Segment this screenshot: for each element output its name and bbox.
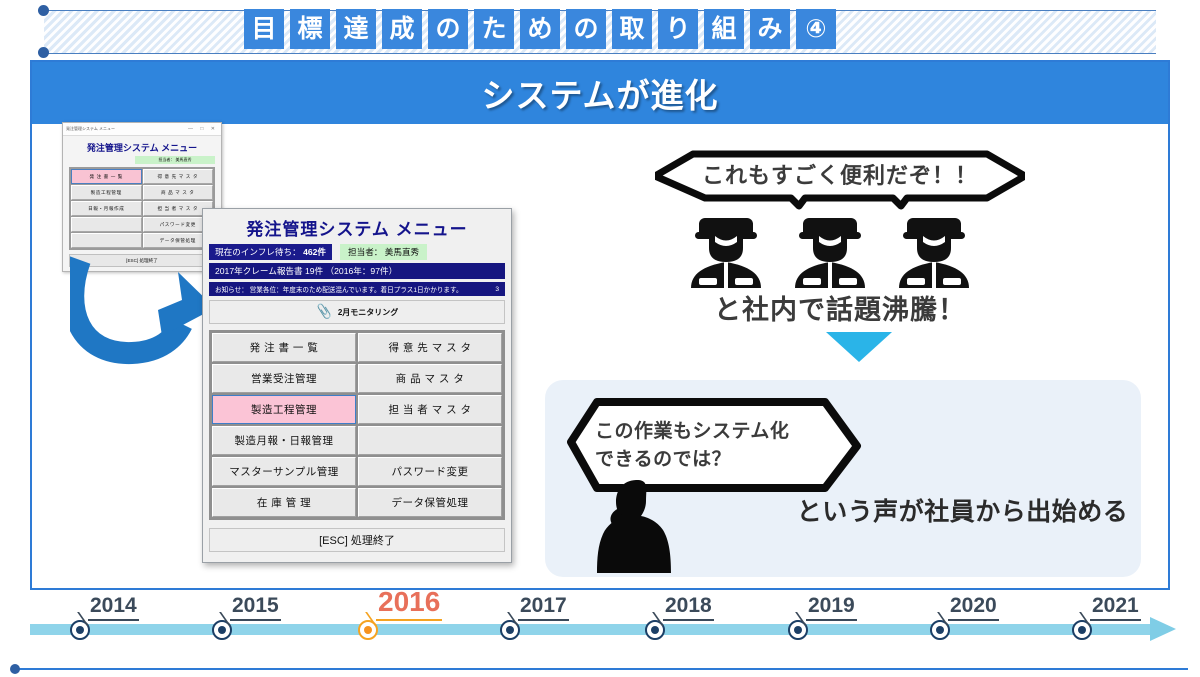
header-title-char: 取 (612, 9, 652, 49)
timeline-node-2016-current[interactable]: 2016 (358, 596, 478, 656)
old-button-grid: 発 注 書 一 覧 得 意 先 マ ス タ 製造工程管理 商 品 マ ス タ 日… (69, 167, 215, 250)
timeline-year-label: 2018 (663, 594, 714, 621)
buzz-text: と社内で話題沸騰！ (650, 288, 1030, 327)
menu-button-empty (358, 426, 502, 455)
header-title-char: 達 (336, 9, 376, 49)
menu-button-data-archive[interactable]: データ保管処理 (358, 488, 502, 517)
timeline-year-label: 2017 (518, 594, 569, 621)
worker-figures-group (685, 212, 975, 292)
exit-button[interactable]: [ESC] 処理終了 (209, 528, 505, 552)
attachment-label: 2月モニタリング (338, 307, 398, 318)
speech-bubble-top: これもすごく便利だぞ！！ (655, 148, 1025, 210)
header-title-char: 目 (244, 9, 284, 49)
old-window-controls: — □ ✕ (188, 126, 218, 132)
old-menu-button[interactable]: 日報・月報作成 (71, 201, 142, 216)
new-window-heading: 発注管理システム メニュー (203, 209, 511, 244)
section-title: システムが進化 (481, 69, 718, 117)
timeline-node-2015[interactable]: 2015 (212, 596, 332, 656)
header-title-char: 標 (290, 9, 330, 49)
down-arrow-icon (826, 332, 892, 362)
notice-text: お知らせ： 営業各位：年度末のため配送混んでいます。着日プラス1日かかります。 (215, 284, 463, 294)
menu-button-process-control[interactable]: 製造工程管理 (212, 395, 356, 424)
timeline-node-2018[interactable]: 2018 (645, 596, 765, 656)
speech-bubble-top-text: これもすごく便利だぞ！！ (655, 158, 1025, 190)
timeline-year-label: 2019 (806, 594, 857, 621)
notice-tail: 3 (495, 286, 499, 293)
menu-button-order-list[interactable]: 発 注 書 一 覧 (212, 333, 356, 362)
thinking-person-silhouette-icon (585, 478, 690, 573)
header-title-char: り (658, 9, 698, 49)
timeline-node-2017[interactable]: 2017 (500, 596, 620, 656)
header-title-char: の (566, 9, 606, 49)
claim-report-bar: 2017年クレーム報告書 19件 （2016年：97件） (209, 263, 505, 279)
header-title-char: 組 (704, 9, 744, 49)
header-title-char: み (750, 9, 790, 49)
paperclip-icon: 📎 (315, 303, 333, 321)
notice-bar: お知らせ： 営業各位：年度末のため配送混んでいます。着日プラス1日かかります。 … (209, 282, 505, 296)
timeline-year-label-current: 2016 (376, 586, 442, 621)
timeline-year-label: 2021 (1090, 594, 1141, 621)
header-title-char: 成 (382, 9, 422, 49)
inflation-wait-count: 462件 (303, 247, 326, 257)
new-info-row: 現在のインフレ待ち： 462件 担当者： 美馬直秀 (203, 244, 511, 260)
menu-button-product-master[interactable]: 商 品 マ ス タ (358, 364, 502, 393)
new-app-window: 発注管理システム メニュー 現在のインフレ待ち： 462件 担当者： 美馬直秀 … (202, 208, 512, 563)
menu-button-inventory[interactable]: 在 庫 管 理 (212, 488, 356, 517)
attachment-row[interactable]: 📎 2月モニタリング (209, 300, 505, 324)
timeline-node-2021[interactable]: 2021 (1072, 596, 1192, 656)
old-window-heading: 発注管理システム メニュー (63, 136, 221, 156)
menu-button-staff-master[interactable]: 担 当 者 マ ス タ (358, 395, 502, 424)
timeline-node-2020[interactable]: 2020 (930, 596, 1050, 656)
old-window-title: 発注管理システム メニュー (66, 126, 115, 132)
inflation-wait-bar: 現在のインフレ待ち： 462件 (209, 244, 332, 260)
footer-rule (12, 668, 1188, 670)
bottom-panel: この作業もシステム化 できるのでは？ という声が社員から出始める (545, 380, 1141, 577)
menu-button-master-sample[interactable]: マスターサンプル管理 (212, 457, 356, 486)
banner-dot-bottom (38, 47, 49, 58)
menu-button-monthly-daily-report[interactable]: 製造月報・日報管理 (212, 426, 356, 455)
voice-text: という声が社員から出始める (790, 492, 1135, 528)
timeline-node-2019[interactable]: 2019 (788, 596, 908, 656)
section-title-bar: システムが進化 (32, 62, 1168, 124)
worker-silhouette-icon (789, 212, 871, 292)
menu-button-customer-master[interactable]: 得 意 先 マ ス タ (358, 333, 502, 362)
new-staff-bar: 担当者： 美馬直秀 (340, 244, 427, 260)
speech-bubble-bottom-line2: できるのでは？ (595, 444, 835, 471)
inflation-wait-label: 現在のインフレ待ち： (215, 247, 301, 257)
timeline-year-label: 2015 (230, 594, 281, 621)
footer-dot (10, 664, 20, 674)
worker-silhouette-icon (893, 212, 975, 292)
header-title-char: め (520, 9, 560, 49)
header-title-char: た (474, 9, 514, 49)
old-window-titlebar: 発注管理システム メニュー — □ ✕ (63, 123, 221, 136)
header-title: 目 標 達 成 の た め の 取 り 組 み ④ (244, 9, 836, 49)
header-title-char: ④ (796, 9, 836, 49)
slide-root: 目 標 達 成 の た め の 取 り 組 み ④ システムが進化 発注管理シス… (0, 0, 1200, 677)
old-menu-button[interactable]: 発 注 書 一 覧 (71, 169, 142, 184)
speech-bubble-bottom-line1: この作業もシステム化 (595, 416, 835, 443)
timeline-year-label: 2014 (88, 594, 139, 621)
old-menu-button[interactable]: 得 意 先 マ ス タ (143, 169, 214, 184)
worker-silhouette-icon (685, 212, 767, 292)
timeline-node-2014[interactable]: 2014 (70, 596, 190, 656)
menu-button-sales-order[interactable]: 営業受注管理 (212, 364, 356, 393)
old-menu-button-empty (71, 233, 142, 248)
menu-button-password-change[interactable]: パスワード変更 (358, 457, 502, 486)
timeline: 2014 2015 2016 2017 2018 2019 (0, 596, 1200, 666)
old-menu-button[interactable]: 商 品 マ ス タ (143, 185, 214, 200)
banner-dot-top (38, 5, 49, 16)
header-title-char: の (428, 9, 468, 49)
old-menu-button[interactable]: 製造工程管理 (71, 185, 142, 200)
old-menu-button-empty (71, 217, 142, 232)
claim-report-text: 2017年クレーム報告書 19件 （2016年：97件） (215, 265, 397, 277)
new-button-grid: 発 注 書 一 覧 得 意 先 マ ス タ 営業受注管理 商 品 マ ス タ 製… (209, 330, 505, 520)
old-staff-bar: 担当者： 美馬直秀 (135, 156, 215, 164)
timeline-year-label: 2020 (948, 594, 999, 621)
